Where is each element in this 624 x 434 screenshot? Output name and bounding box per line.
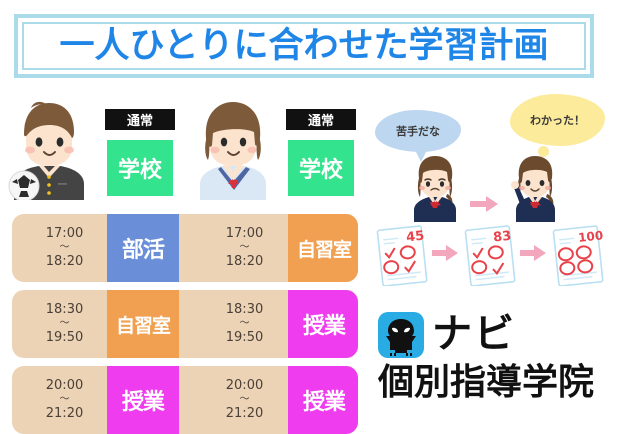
school-block-boy: 学校 <box>107 140 173 196</box>
title-banner: 一人ひとりに合わせた学習計画 <box>14 14 594 78</box>
transition-arrow-icon <box>470 196 498 212</box>
time-separator: 〜 <box>240 242 250 254</box>
time-cell-girl: 18:30 〜 19:50 <box>202 290 287 358</box>
time-cell-boy: 17:00 〜 18:20 <box>22 214 107 282</box>
activity-cell-boy: 授業 <box>107 366 179 434</box>
svg-text:100: 100 <box>577 228 603 245</box>
activity-cell-girl: 授業 <box>288 290 358 358</box>
time-end: 21:20 <box>226 406 263 422</box>
schedule-table: 通常 学校 通常 学校 17:00 〜 18:20 部活 17:00 〜 18:… <box>0 92 370 422</box>
schedule-row: 17:00 〜 18:20 部活 17:00 〜 18:20 自習室 <box>12 214 358 282</box>
time-cell-girl: 17:00 〜 18:20 <box>202 214 287 282</box>
test-paper-3: 100 <box>553 225 608 286</box>
test-arrow-2 <box>520 245 546 261</box>
time-start: 20:00 <box>226 378 263 394</box>
schedule-row: 18:30 〜 19:50 自習室 18:30 〜 19:50 授業 <box>12 290 358 358</box>
time-separator: 〜 <box>240 318 250 330</box>
time-cell-boy: 18:30 〜 19:50 <box>22 290 107 358</box>
activity-cell-girl: 自習室 <box>288 214 358 282</box>
speech-bubble-before: 苦手だな <box>375 110 461 152</box>
time-end: 18:20 <box>46 254 83 270</box>
time-separator: 〜 <box>60 242 70 254</box>
school-block-girl: 学校 <box>288 140 354 196</box>
happy-student-icon <box>508 154 562 222</box>
speech-bubble-after: わかった！ <box>510 94 605 146</box>
time-cell-girl: 20:00 〜 21:20 <box>202 366 287 434</box>
time-cell-boy: 20:00 〜 21:20 <box>22 366 107 434</box>
test-arrow-1 <box>432 245 458 261</box>
svg-text:45: 45 <box>405 229 425 246</box>
speech-bubble-after-text: わかった！ <box>510 94 605 146</box>
time-start: 18:30 <box>46 302 83 318</box>
time-start: 20:00 <box>46 378 83 394</box>
time-end: 21:20 <box>46 406 83 422</box>
logo-mark-background <box>378 312 424 358</box>
activity-cell-girl: 授業 <box>288 366 358 434</box>
time-end: 19:50 <box>46 330 83 346</box>
time-separator: 〜 <box>60 318 70 330</box>
time-start: 17:00 <box>46 226 83 242</box>
schedule-row: 20:00 〜 21:20 授業 20:00 〜 21:20 授業 <box>12 366 358 434</box>
test-paper-2: 83 <box>465 226 516 286</box>
test-score-progress-icons: 45 83 100 <box>374 224 624 286</box>
speech-bubble-before-text: 苦手だな <box>375 110 461 152</box>
owl-mascot-icon <box>378 312 424 358</box>
time-separator: 〜 <box>60 394 70 406</box>
brand-logo: ナビ 個別指導学院 <box>378 310 622 414</box>
badge-normal-boy: 通常 <box>105 109 175 130</box>
activity-cell-boy: 部活 <box>107 214 179 282</box>
svg-text:83: 83 <box>492 229 512 246</box>
title-banner-inner-border: 一人ひとりに合わせた学習計画 <box>22 22 586 70</box>
logo-brand-subtitle: 個別指導学院 <box>378 360 594 406</box>
progress-panel: 苦手だな わかった！ <box>370 92 624 422</box>
logo-brand-name: ナビ <box>432 310 516 358</box>
girl-student-avatar-icon <box>190 100 276 200</box>
time-separator: 〜 <box>240 394 250 406</box>
badge-normal-girl: 通常 <box>286 109 356 130</box>
test-paper-1: 45 <box>377 226 429 286</box>
sad-student-icon <box>408 154 462 222</box>
boy-student-avatar-icon <box>6 100 92 200</box>
time-end: 18:20 <box>226 254 263 270</box>
time-end: 19:50 <box>226 330 263 346</box>
activity-cell-boy: 自習室 <box>107 290 179 358</box>
time-start: 18:30 <box>226 302 263 318</box>
page-title: 一人ひとりに合わせた学習計画 <box>60 29 549 64</box>
time-start: 17:00 <box>226 226 263 242</box>
